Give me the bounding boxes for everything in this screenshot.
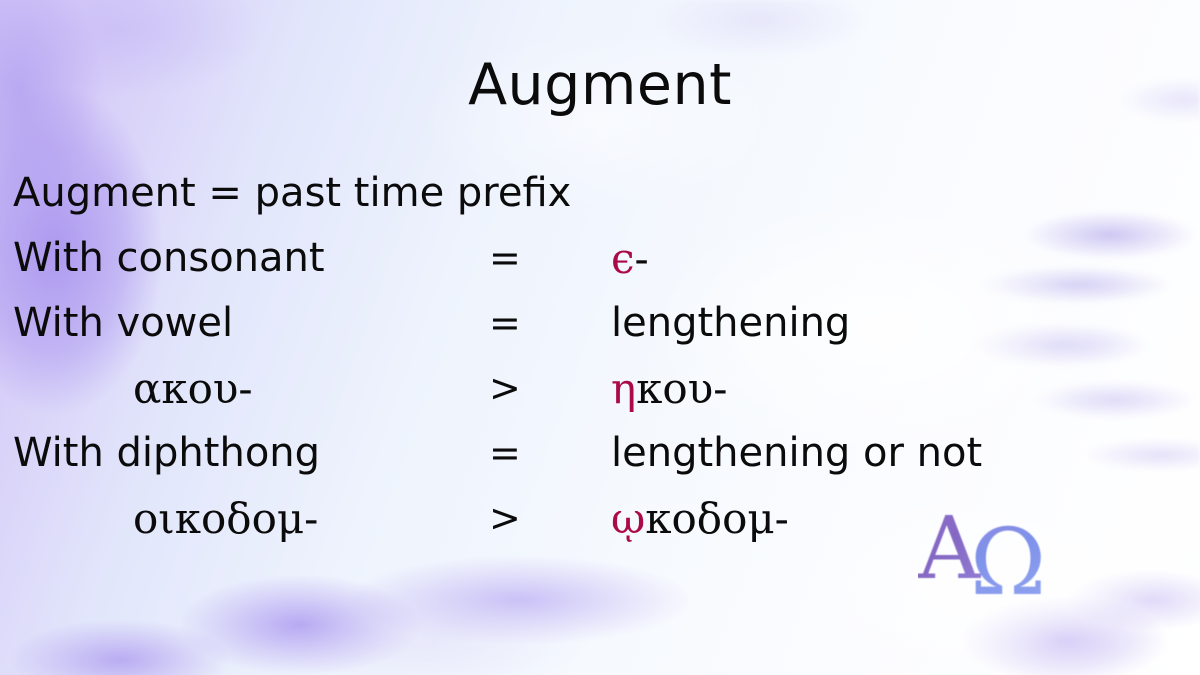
slide-title: Augment — [0, 52, 1200, 118]
line-value: ῳκοδομ- — [611, 486, 789, 551]
line-value-rest: lengthening — [611, 300, 850, 346]
line-operator: > — [489, 356, 521, 421]
line-operator: > — [489, 486, 521, 551]
line-value: ϵ- — [611, 226, 649, 291]
line-value-accent: ῳ — [611, 494, 645, 543]
body-line: With consonant = ϵ- — [0, 226, 1200, 291]
line-value-rest: κοδομ- — [645, 494, 789, 543]
body-line: With vowel = lengthening — [0, 291, 1200, 356]
line-value: ηκου- — [611, 356, 727, 421]
line-operator: = — [489, 291, 521, 356]
presentation-slide: Augment Augment = past time prefix With … — [0, 0, 1200, 675]
body-line: ακου- > ηκου- — [0, 356, 1200, 421]
line-value-rest: lengthening or not — [611, 430, 982, 476]
line-label: With vowel — [13, 291, 233, 356]
line-label: With consonant — [13, 226, 325, 291]
line-value: lengthening or not — [611, 421, 982, 486]
line-label: With diphthong — [13, 421, 320, 486]
line-value-rest: κου- — [636, 364, 727, 413]
line-value: lengthening — [611, 291, 850, 356]
line-operator: = — [489, 421, 521, 486]
line-value-rest: - — [635, 234, 649, 283]
line-label: οικοδομ- — [133, 486, 318, 551]
line-label: Augment = past time prefix — [13, 161, 571, 226]
line-operator: = — [489, 226, 521, 291]
line-value-accent: η — [611, 364, 636, 413]
body-line: With diphthong = lengthening or not — [0, 421, 1200, 486]
line-value-accent: ϵ — [611, 234, 635, 283]
alpha-omega-logo-icon: Ω Α — [918, 498, 1078, 600]
line-label: ακου- — [133, 356, 253, 421]
omega-glyph: Ω — [970, 509, 1046, 600]
slide-body: Augment = past time prefix With consonan… — [0, 161, 1200, 551]
alpha-glyph: Α — [918, 499, 981, 599]
body-line: Augment = past time prefix — [0, 161, 1200, 226]
slide-content: Augment Augment = past time prefix With … — [0, 0, 1200, 675]
